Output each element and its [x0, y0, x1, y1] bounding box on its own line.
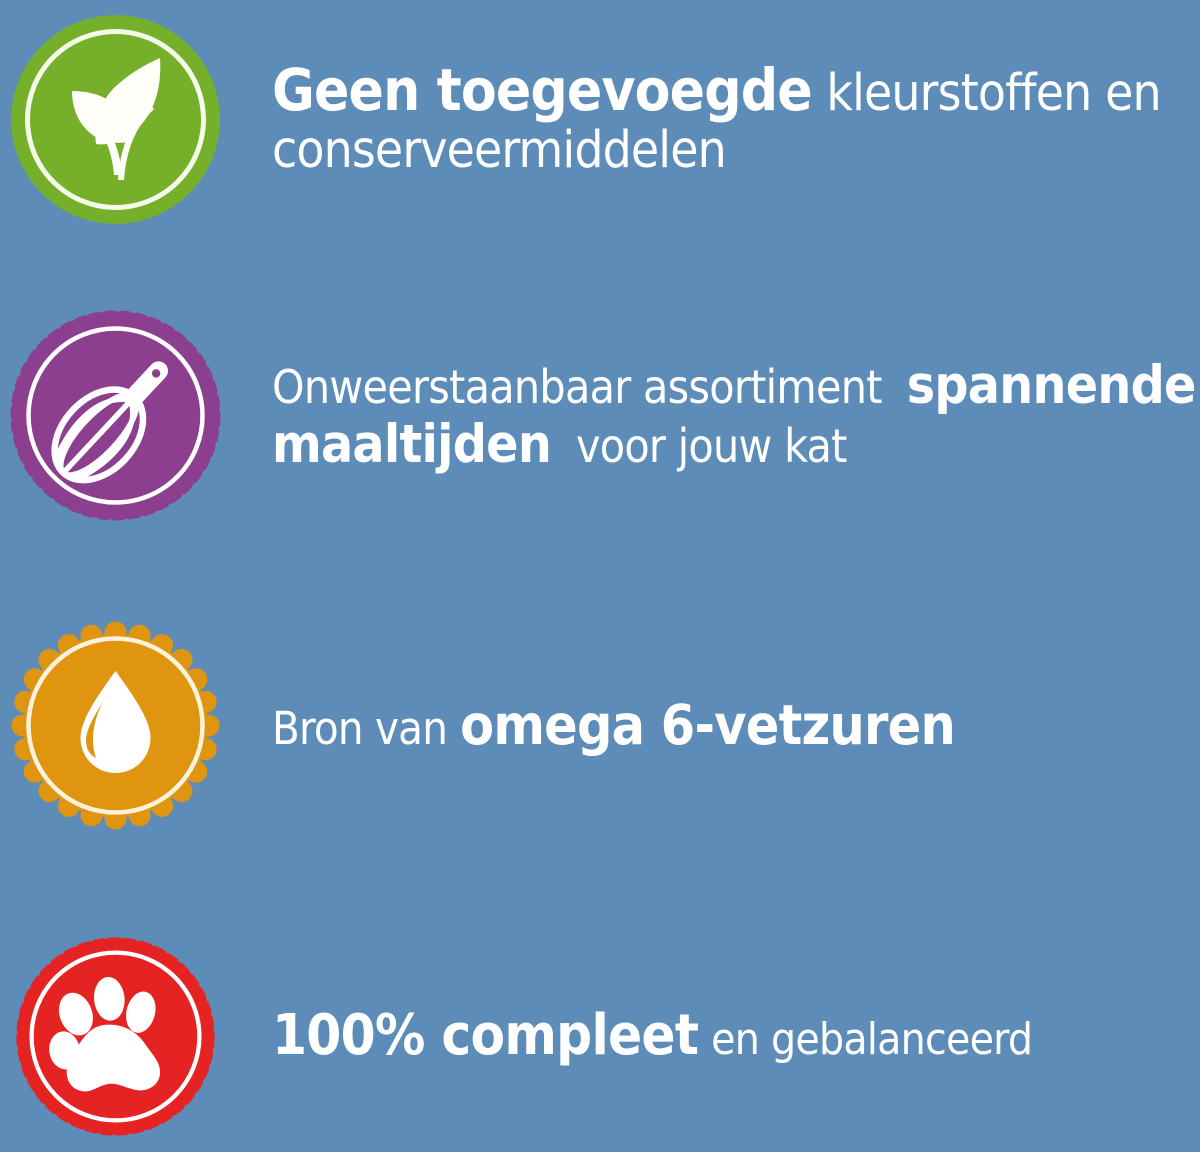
feature-text-no-additives: Geen toegevoegdekleurstoffen en conserve…	[230, 61, 1200, 177]
badge-complete	[0, 921, 230, 1151]
feature-plain: conserveermiddelen	[272, 121, 726, 180]
feature-plain: Onweerstaanbaar assortiment	[272, 360, 882, 414]
feature-emphasis: maaltijden	[272, 414, 551, 475]
feature-line-1: Onweerstaanbaar assortimentspannende	[272, 356, 1200, 415]
feature-emphasis: omega 6-vetzuren	[460, 693, 955, 757]
leaf-icon	[8, 12, 223, 227]
feature-row-complete: 100% compleeten gebalanceerd	[0, 925, 1200, 1147]
feature-line-2: conserveermiddelen	[272, 120, 1200, 177]
feature-row-irresistible: Onweerstaanbaar assortimentspannende maa…	[0, 300, 1200, 530]
feature-text-omega: Bron vanomega 6-vetzuren	[230, 696, 1200, 754]
feature-text-complete: 100% compleeten gebalanceerd	[230, 1006, 1200, 1065]
feature-plain: kleurstoffen en	[826, 64, 1160, 123]
feature-line-1: Geen toegevoegdekleurstoffen en	[272, 61, 1200, 120]
feature-banner: Geen toegevoegdekleurstoffen en conserve…	[0, 0, 1200, 1152]
feature-plain: voor jouw kat	[576, 419, 847, 473]
feature-line-1: 100% compleeten gebalanceerd	[272, 1006, 1200, 1065]
paw-print-icon	[13, 934, 218, 1139]
feature-line-2: maaltijdenvoor jouw kat	[272, 415, 1200, 474]
badge-omega	[0, 610, 230, 840]
badge-irresistible	[0, 300, 230, 530]
feature-emphasis: Geen toegevoegde	[272, 56, 812, 124]
badge-no-additives	[0, 4, 230, 234]
feature-plain: Bron van	[272, 702, 447, 755]
feature-emphasis: spannende	[907, 355, 1196, 416]
droplet-icon	[8, 618, 223, 833]
feature-row-no-additives: Geen toegevoegdekleurstoffen en conserve…	[0, 4, 1200, 234]
feature-row-omega: Bron vanomega 6-vetzuren	[0, 610, 1200, 840]
feature-emphasis: 100% compleet	[272, 1003, 698, 1068]
whisk-icon	[8, 308, 223, 523]
feature-text-irresistible: Onweerstaanbaar assortimentspannende maa…	[230, 356, 1200, 475]
feature-plain: en gebalanceerd	[711, 1014, 1032, 1065]
feature-line-1: Bron vanomega 6-vetzuren	[272, 696, 1200, 754]
